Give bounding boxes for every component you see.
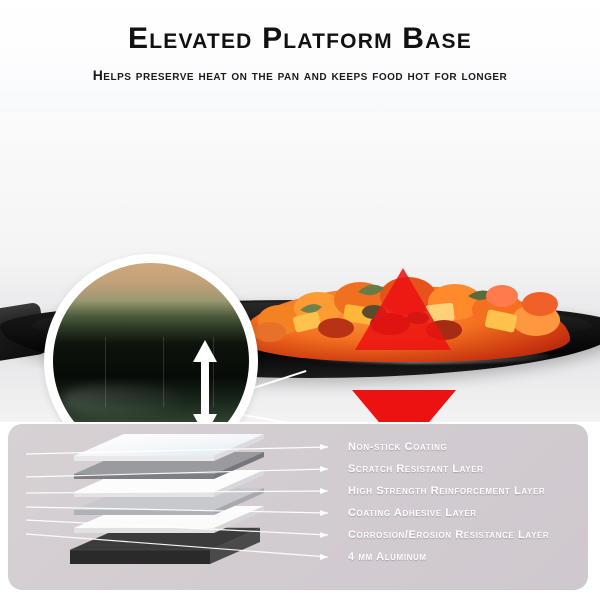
layer-label-high-strength: High Strength Reinforcement Layer — [348, 485, 545, 497]
header-band: Elevated Platform Base Helps preserve he… — [0, 0, 600, 112]
product-photo — [0, 112, 600, 422]
heat-marker-lower-triangle — [352, 390, 456, 422]
layer-label-scratch-resistant: Scratch Resistant Layer — [348, 463, 484, 475]
layer-label-corrosion-erosion: Corrosion/Erosion Resistance Layer — [348, 529, 549, 541]
layer-label-aluminum: 4 mm Aluminum — [348, 551, 427, 563]
product-infographic: Elevated Platform Base Helps preserve he… — [0, 0, 600, 600]
page-title: Elevated Platform Base — [0, 22, 600, 56]
page-subtitle: Helps preserve heat on the pan and keeps… — [0, 66, 600, 84]
layer-label-non-stick-coating: Non-stick Coating — [348, 441, 447, 453]
leader-lines — [8, 424, 588, 590]
heat-marker-upper-triangle — [355, 268, 451, 350]
layer-label-coating-adhesive: Coating Adhesive Layer — [348, 507, 477, 519]
magnifier-circle — [44, 254, 258, 422]
coating-layers-panel: Non-stick Coating Scratch Resistant Laye… — [8, 424, 588, 590]
platform-height-arrow-icon — [186, 340, 224, 422]
